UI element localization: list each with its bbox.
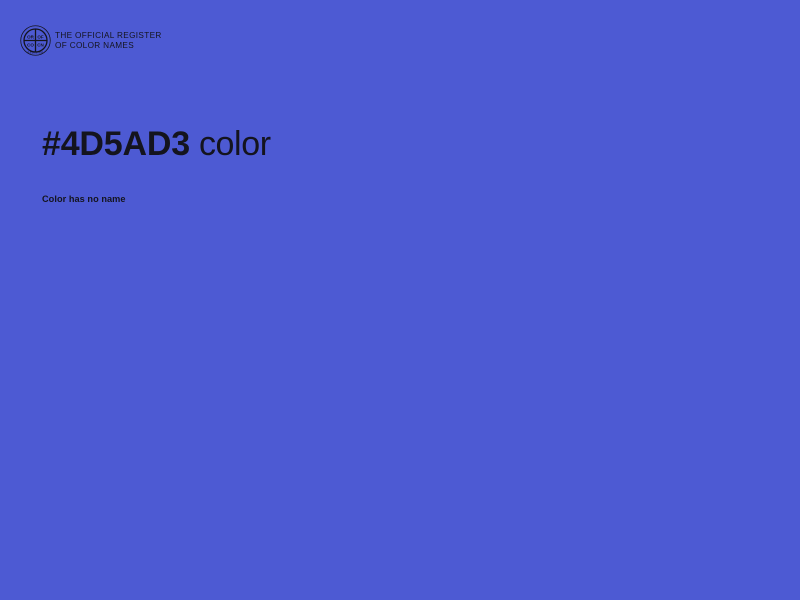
brand-line-2: OF COLOR NAMES [55,41,162,51]
color-page: OR OF CO CN REGISTER THE OFFICIAL REGIST… [0,0,800,600]
color-hex-value: #4D5AD3 [42,125,190,163]
brand-text: THE OFFICIAL REGISTER OF COLOR NAMES [55,30,162,51]
register-seal-icon: OR OF CO CN REGISTER [20,25,51,56]
color-title-suffix: color [199,125,271,163]
svg-text:REGISTER: REGISTER [28,52,44,55]
svg-text:OR: OR [27,34,35,39]
svg-text:CO: CO [27,43,34,48]
main-content: #4D5AD3 color Color has no name [42,122,758,204]
site-logo-link[interactable]: OR OF CO CN REGISTER THE OFFICIAL REGIST… [20,25,162,56]
svg-text:OF: OF [37,34,44,39]
svg-text:CN: CN [37,43,44,48]
page-title: #4D5AD3 color [42,122,758,166]
color-name-status: Color has no name [42,166,758,204]
brand-line-1: THE OFFICIAL REGISTER [55,31,162,41]
